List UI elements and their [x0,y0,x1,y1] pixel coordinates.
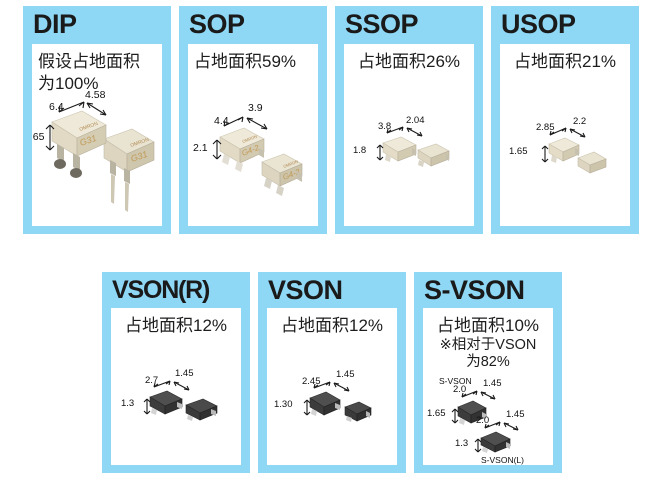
footprint-text-ssop: 占地面积26% [344,44,474,73]
dim-label-sop-3-9: 3.9 [248,102,263,114]
device-illustration-ssop: 2.04 3.8 1.8 [361,119,471,179]
package-card-usop[interactable]: USOP 占地面积21% [491,6,639,234]
dim-label-ssop-1-8: 1.8 [353,145,366,156]
dim-label-svson-1-65: 1.65 [427,408,446,419]
device-illustration-usop: 2.2 2.85 1.65 [516,119,628,184]
dim-label-svson-1-45-top: 1.45 [483,378,502,389]
card-title-sop: SOP [189,8,245,40]
dim-label-ssop-3-8: 3.8 [378,121,391,132]
footprint-text-s-vson: 占地面积10% [423,308,553,337]
footprint-text-usop: 占地面积21% [500,44,630,73]
card-body-usop: 占地面积21% [500,44,630,226]
footprint-text-vson: 占地面积12% [267,308,397,337]
package-card-s-vson[interactable]: S-VSON 占地面积10% ※相对于VSON 为82% [414,272,562,473]
dim-label-vsonr-2-7: 2.7 [145,375,158,386]
device-illustration-dip: OMRON G31 OMRON G31 [32,92,162,226]
dim-label-dip-3-65: 3.65 [32,131,44,143]
dim-label-dip-6-4: 6.4 [49,101,64,113]
device-illustration-vson-r: 1.45 2.7 1.3 [123,370,241,435]
footprint-text-sop: 占地面积59% [188,44,318,73]
dim-label-vsonr-1-45: 1.45 [175,368,194,379]
dim-label-usop-2-85: 2.85 [536,122,555,133]
card-body-ssop: 占地面积26% [344,44,474,226]
dim-label-vson-2-45: 2.45 [302,376,321,387]
device-illustration-sop: OMRON G4-2 OMRON G4-2 [196,102,318,222]
card-title-vson: VSON [268,274,343,306]
card-body-vson-r: 占地面积12% [111,308,241,465]
card-body-dip: 假设占地面积 为100% OMRON G31 [32,44,162,226]
dim-label-vsonr-1-3: 1.3 [121,398,134,409]
card-body-s-vson: 占地面积10% ※相对于VSON 为82% [423,308,553,465]
dim-label-usop-2-2: 2.2 [573,116,586,127]
package-card-dip[interactable]: DIP 假设占地面积 为100% OMRON G31 [23,6,171,234]
dim-label-svson-1-45-bot: 1.45 [506,409,525,420]
card-title-ssop: SSOP [345,8,418,40]
dim-label-sop-2-1: 2.1 [193,142,208,154]
footprint-note-s-vson-line1: ※相对于VSON [423,337,553,354]
footprint-text-dip: 假设占地面积 为100% [32,44,162,95]
card-body-sop: 占地面积59% OMRON G4-2 [188,44,318,226]
footprint-text-vson-r: 占地面积12% [111,308,241,337]
vson-r-package-svg [123,370,241,435]
card-title-vson-r: VSON(R) [112,274,209,306]
package-card-vson[interactable]: VSON 占地面积12% [258,272,406,473]
package-card-ssop[interactable]: SSOP 占地面积26% [335,6,483,234]
dim-label-sop-4-4: 4.4 [214,115,229,127]
dim-label-vson-1-45: 1.45 [336,369,355,380]
device-illustration-vson: 1.45 2.45 1.30 [279,370,397,435]
part-label-s-vson-l: S-VSON(L) [481,455,524,465]
footprint-note-s-vson-line2: 为82% [423,354,553,371]
dim-label-svson-2-0-top: 2.0 [453,384,466,395]
card-title-dip: DIP [33,8,77,40]
card-title-usop: USOP [501,8,576,40]
device-illustration-s-vson: S-VSON 1.45 2.0 1.65 1.45 2.0 1.3 S-VSON… [425,376,553,465]
card-body-vson: 占地面积12% [267,308,397,465]
figure-canvas: DIP 假设占地面积 为100% OMRON G31 [0,0,651,483]
usop-package-svg [516,119,628,184]
card-title-s-vson: S-VSON [424,274,525,306]
dim-label-svson-2-0-bot: 2.0 [476,415,489,426]
dim-label-usop-1-65: 1.65 [509,146,528,157]
dim-label-svson-1-3: 1.3 [455,438,468,449]
dim-label-dip-4-58: 4.58 [85,89,105,101]
dim-label-vson-1-30: 1.30 [274,399,293,410]
package-card-vson-r[interactable]: VSON(R) 占地面积12% [102,272,250,473]
package-card-sop[interactable]: SOP 占地面积59% OMRON G4-2 [179,6,327,234]
dim-label-ssop-2-04: 2.04 [406,115,425,126]
